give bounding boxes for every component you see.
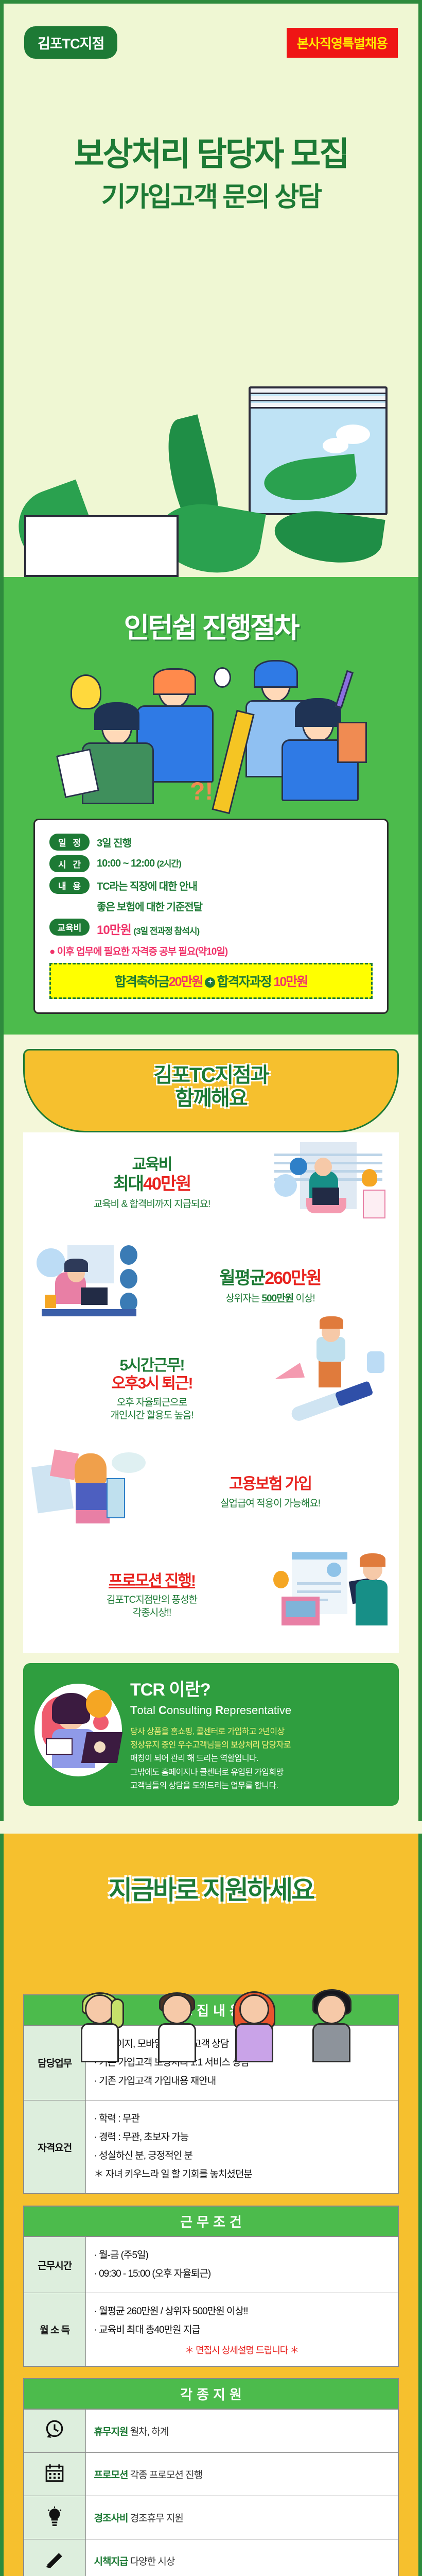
internship-row-fee: 교육비 10만원 (3일 전과정 참석시) <box>49 919 373 938</box>
apply-section: 지금바로 지원하세요 <box>0 1834 422 2576</box>
row-content: 경조사비 경조휴무 지원 <box>85 2496 398 2539</box>
crowd-illustration <box>4 1927 418 1994</box>
row-content: · 월평균 260만원 / 상위자 500만원 이상!! · 교육비 최대 총4… <box>85 2293 398 2366</box>
benefit-desc: 김포TC지점만의 풍성한 각종시상!! <box>34 1594 269 1619</box>
apply-title: 지금바로 지원하세요 <box>4 1834 418 1927</box>
support-label: 경조사비 <box>94 2513 128 2524</box>
hair-icon <box>153 668 196 695</box>
row-header: 자격요건 <box>24 2100 85 2194</box>
hero-section: 김포TC지점 본사직영특별채용 보상처리 담당자 모집 기가입고객 문의 상담 <box>0 0 422 577</box>
support-label: 휴무지원 <box>94 2427 128 2437</box>
row-content: 휴무지원 월차, 하계 <box>85 2409 398 2453</box>
table-row: 월 소 득 · 월평균 260만원 / 상위자 500만원 이상!! · 교육비… <box>24 2293 398 2366</box>
row-header: 월 소 득 <box>24 2293 85 2366</box>
tcr-card: TCR 이란? Total Consulting Representative … <box>23 1663 399 1806</box>
lightbulb-icon <box>71 674 101 709</box>
row-content: 프로모션 각종 프로모션 진행 <box>85 2452 398 2496</box>
table-caption: 각종지원 <box>23 2378 399 2409</box>
man-laptop-media-icon <box>269 1552 388 1640</box>
hair-icon <box>94 702 139 730</box>
internship-row-time: 시 간 10:00 ~ 12:00 (2시간) <box>49 855 373 872</box>
list-item: · 09:30 - 15:00 (오후 자율퇴근) <box>94 2265 390 2283</box>
row-key: 교육비 <box>49 919 90 936</box>
internship-row-schedule: 일 정 3일 진행 <box>49 834 373 851</box>
list-item: · 월-금 (주5일) <box>94 2246 390 2265</box>
magnifier-icon <box>214 667 231 688</box>
working-conditions-table: 근무조건 근무시간 · 월-금 (주5일) · 09:30 - 15:00 (오… <box>23 2206 399 2366</box>
benefit-desc-line2: 개인시간 활용도 높음! <box>110 1410 193 1421</box>
tcr-line-1: 당사 상품을 홈쇼핑, 콜센터로 가입하고 2년이상 <box>130 1727 285 1736</box>
benefit-desc-line1: 오후 자율퇴근으로 <box>117 1397 187 1408</box>
benefit-desc-post: 이상! <box>293 1293 315 1304</box>
clock-icon <box>24 2409 85 2453</box>
diploma-icon <box>24 2539 85 2576</box>
woman-laptop-icon <box>269 1140 388 1228</box>
tcr-sub-b3: R <box>215 1704 223 1717</box>
benefits-banner-line1: 김포TC지점과 <box>153 1064 268 1087</box>
benefits-banner: 김포TC지점과 함께해요 <box>23 1049 399 1132</box>
row-header: 담당업무 <box>24 2025 85 2100</box>
benefit-heading: 5시간근무! 오후3시 퇴근! <box>34 1357 269 1393</box>
benefit-desc-line1: 김포TC지점만의 풍성한 <box>107 1595 197 1605</box>
internship-bullet-note: ● 이후 업무에 필요한 자격증 공부 필요(약10일) <box>49 944 373 958</box>
row-value: 10만원 (3일 전과정 참석시) <box>97 919 199 938</box>
branch-badge: 김포TC지점 <box>24 26 117 59</box>
tcr-line-2: 정상유지 중인 우수고객님들의 보상처리 담당자로 <box>130 1741 291 1750</box>
book-icon <box>337 722 367 763</box>
bonus-label-2: 합격자과정 <box>217 975 271 989</box>
row-value-amount: 10만원 <box>97 923 131 937</box>
tcr-paragraph: 당사 상품을 홈쇼핑, 콜센터로 가입하고 2년이상 정상유지 중인 우수고객님… <box>130 1725 388 1793</box>
benefit-desc: 상위자는 500만원 이상! <box>153 1293 388 1306</box>
benefit-heading-line1: 교육비 <box>132 1156 172 1173</box>
row-key: 시 간 <box>49 855 90 872</box>
benefit-heading-pre: 월평균 <box>219 1268 265 1288</box>
benefit-text: 프로모션 진행! 김포TC지점만의 풍성한 각종시상!! <box>34 1572 269 1620</box>
internship-section: 인턴쉽 진행절차 ?! 일 정 3일 진행 <box>0 577 422 1035</box>
woman-laptop-chat-icon <box>34 1675 122 1793</box>
list-item: · 월평균 260만원 / 상위자 500만원 이상!! <box>94 2302 390 2321</box>
tcr-line-5: 고객님들의 상담을 도와드리는 업무를 합니다. <box>130 1782 278 1790</box>
row-content: · 월-금 (주5일) · 09:30 - 15:00 (오후 자율퇴근) <box>85 2236 398 2293</box>
benefit-heading-amount: 260만원 <box>265 1268 321 1288</box>
benefit-item-promotion: 프로모션 진행! 김포TC지점만의 풍성한 각종시상!! <box>23 1545 399 1648</box>
tcr-sub-b1: T <box>130 1704 137 1717</box>
benefit-item-employment-insurance: 고용보험 가입 실업급여 적용이 가능해요! <box>23 1442 399 1545</box>
benefit-item-work-hours: 5시간근무! 오후3시 퇴근! 오후 자율퇴근으로 개인시간 활용도 높음! <box>23 1338 399 1442</box>
support-text: 월차, 하계 <box>130 2427 168 2437</box>
row-value-note: (2시간) <box>157 859 181 869</box>
woman-desk-icon <box>34 1243 153 1331</box>
table-row: 프로모션 각종 프로모션 진행 <box>24 2452 398 2496</box>
tcr-line-3: 매칭이 되어 관리 해 드리는 역할입니다. <box>130 1754 258 1763</box>
table-row: 근무시간 · 월-금 (주5일) · 09:30 - 15:00 (오후 자율퇴… <box>24 2236 398 2293</box>
table-row: 휴무지원 월차, 하계 <box>24 2409 398 2453</box>
benefit-text: 고용보험 가입 실업급여 적용이 가능해요! <box>153 1476 388 1510</box>
internship-details-card: 일 정 3일 진행 시 간 10:00 ~ 12:00 (2시간) 내 용 TC… <box>33 819 389 1014</box>
benefit-text: 월평균260만원 상위자는 500만원 이상! <box>153 1268 388 1306</box>
row-value: 10:00 ~ 12:00 (2시간) <box>97 855 181 870</box>
internship-illustration: ?! <box>4 649 418 819</box>
hair-icon <box>254 660 298 688</box>
page-title: 보상처리 담당자 모집 <box>24 136 398 173</box>
tcr-section: TCR 이란? Total Consulting Representative … <box>0 1653 422 1821</box>
hero-badges: 김포TC지점 본사직영특별채용 <box>24 26 398 59</box>
benefit-text: 5시간근무! 오후3시 퇴근! 오후 자율퇴근으로 개인시간 활용도 높음! <box>34 1357 269 1422</box>
question-mark-icon: ?! <box>190 777 213 806</box>
woman-notebook-icon <box>34 1449 153 1537</box>
tcr-sub-r2: onsulting <box>167 1704 215 1717</box>
monitor-icon <box>24 515 179 577</box>
row-value: 3일 진행 <box>97 834 131 850</box>
row-content: 시책지급 다양한 시상 <box>85 2539 398 2576</box>
benefit-heading: 교육비 최대40만원 <box>34 1156 269 1194</box>
benefit-heading: 월평균260만원 <box>153 1268 388 1289</box>
list-item: · 성실하신 분, 긍정적인 분 <box>94 2147 390 2165</box>
hero-illustration <box>4 335 418 577</box>
list-item: · 학력 : 무관 <box>94 2110 390 2128</box>
benefit-desc-pre: 상위자는 <box>225 1293 261 1304</box>
row-value-main: 10:00 ~ 12:00 <box>97 858 154 869</box>
list-item: · 경력 : 무관, 초보자 가능 <box>94 2128 390 2147</box>
tcr-line-4: 그밖에도 홈페이지나 콜센터로 유입된 가입희망 <box>130 1768 284 1777</box>
tcr-subtitle: Total Consulting Representative <box>130 1704 388 1717</box>
benefits-list: 교육비 최대40만원 교육비 & 합격비까지 지급되요! <box>23 1132 399 1653</box>
man-pencil-rocket-icon <box>269 1346 388 1434</box>
row-key: 일 정 <box>49 834 90 851</box>
bonus-amount-1: 20만원 <box>169 975 203 989</box>
list-item: · 교육비 최대 총40만원 지급 <box>94 2321 390 2340</box>
tcr-body: TCR 이란? Total Consulting Representative … <box>130 1675 388 1793</box>
table-caption: 근무조건 <box>23 2206 399 2236</box>
internship-row-content: 내 용 TC라는 직장에 대한 안내 <box>49 877 373 894</box>
tcr-sub-b2: C <box>159 1704 167 1717</box>
benefit-text: 교육비 최대40만원 교육비 & 합격비까지 지급되요! <box>34 1156 269 1211</box>
benefit-heading: 프로모션 진행! <box>34 1572 269 1590</box>
benefit-desc-line2: 각종시상!! <box>133 1607 171 1618</box>
benefits-section: 김포TC지점과 함께해요 <box>0 1035 422 1653</box>
support-text: 다양한 시상 <box>130 2556 175 2567</box>
benefits-banner-title: 김포TC지점과 함께해요 <box>30 1064 392 1110</box>
bonus-label-1: 합격축하금 <box>115 975 169 989</box>
benefit-heading-line1: 5시간근무! <box>119 1357 184 1374</box>
internship-bonus-highlight: 합격축하금20만원+합격자과정 10만원 <box>49 963 373 999</box>
table-row: 경조사비 경조휴무 지원 <box>24 2496 398 2539</box>
apply-spacer <box>0 1821 422 1834</box>
recruitment-poster: 김포TC지점 본사직영특별채용 보상처리 담당자 모집 기가입고객 문의 상담 <box>0 0 422 2576</box>
list-item: ＊ 자녀 키우느라 일 할 기회를 놓치셨던분 <box>94 2165 390 2184</box>
tcr-title: TCR 이란? <box>130 1675 388 1701</box>
row-content: · 학력 : 무관 · 경력 : 무관, 초보자 가능 · 성실하신 분, 긍정… <box>85 2100 398 2194</box>
plus-icon: + <box>205 977 215 988</box>
tcr-sub-r1: otal <box>137 1704 159 1717</box>
internship-title: 인턴쉽 진행절차 <box>4 592 418 646</box>
table-row: 자격요건 · 학력 : 무관 · 경력 : 무관, 초보자 가능 · 성실하신 … <box>24 2100 398 2194</box>
page-subtitle: 기가입고객 문의 상담 <box>24 175 398 214</box>
bulb-icon <box>24 2496 85 2539</box>
pen-icon <box>335 670 354 709</box>
benefit-heading-line2: 오후3시 퇴근! <box>111 1375 192 1392</box>
tcr-sub-r3: epresentative <box>223 1704 291 1717</box>
row-value: TC라는 직장에 대한 안내 <box>97 877 197 893</box>
row-value-note: (3일 전과정 참석시) <box>133 926 199 936</box>
support-label: 시책지급 <box>94 2556 128 2567</box>
benefit-desc: 오후 자율퇴근으로 개인시간 활용도 높음! <box>34 1397 269 1422</box>
benefit-desc: 실업급여 적용이 가능해요! <box>153 1498 388 1511</box>
special-recruitment-badge: 본사직영특별채용 <box>287 28 398 58</box>
hair-icon <box>295 698 341 727</box>
row-key: 내 용 <box>49 877 90 894</box>
table-row: 시책지급 다양한 시상 <box>24 2539 398 2576</box>
list-item: · 기존 가입고객 가입내용 재안내 <box>94 2072 390 2091</box>
benefit-heading-pre: 최대 <box>113 1174 144 1194</box>
benefit-desc: 교육비 & 합격비까지 지급되요! <box>34 1198 269 1211</box>
benefit-heading-amount: 40만원 <box>143 1174 190 1194</box>
support-label: 프로모션 <box>94 2470 128 2481</box>
benefit-heading: 고용보험 가입 <box>153 1476 388 1494</box>
bonus-amount-2: 10만원 <box>273 975 307 989</box>
support-text: 각종 프로모션 진행 <box>130 2470 202 2481</box>
calendar-icon <box>24 2452 85 2496</box>
benefit-desc-amount: 500만원 <box>262 1293 294 1304</box>
support-table: 각종지원 휴무지원 월차, 하계 프로모션 각종 프로모션 진행 <box>23 2378 399 2576</box>
internship-content-line2: 좋은 보험에 대한 기준전달 <box>97 899 373 913</box>
interview-note: ＊ 면접시 상세설명 드립니다 ＊ <box>94 2343 390 2357</box>
row-header: 근무시간 <box>24 2236 85 2293</box>
benefits-banner-line2: 함께해요 <box>175 1087 247 1110</box>
benefit-item-education-fee: 교육비 최대40만원 교육비 & 합격비까지 지급되요! <box>23 1132 399 1235</box>
support-text: 경조휴무 지원 <box>130 2513 183 2524</box>
